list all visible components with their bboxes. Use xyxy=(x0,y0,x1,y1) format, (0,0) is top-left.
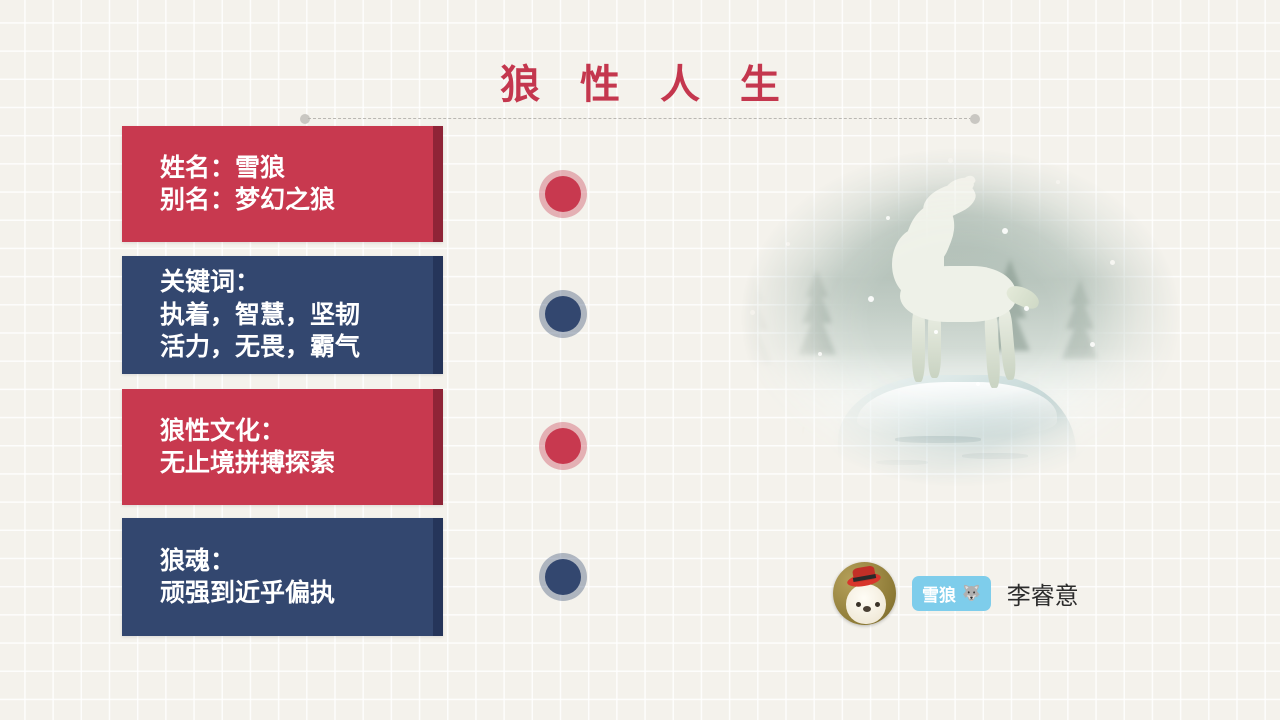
dry-grass xyxy=(768,420,810,476)
wolf-photo xyxy=(690,120,1210,540)
card-edge xyxy=(433,256,443,374)
card-line: 活力，无畏，霸气 xyxy=(160,331,443,364)
page-title: 狼 性 人 生 xyxy=(0,52,1280,110)
snowflake xyxy=(1024,306,1029,311)
snow-background xyxy=(690,120,1210,540)
card-edge xyxy=(433,126,443,242)
card-edge xyxy=(433,518,443,636)
card-line: 执着，智慧，坚韧 xyxy=(160,299,443,332)
status-badge[interactable]: 雪狼 🐺 xyxy=(912,576,991,611)
rock-shadow xyxy=(810,472,1110,506)
bullet-marker-3[interactable] xyxy=(539,422,587,470)
snowflake xyxy=(934,330,938,334)
snowflake xyxy=(1110,260,1115,265)
dog-eye-icon xyxy=(856,602,861,607)
avatar xyxy=(833,562,896,625)
conifer-tree-icon xyxy=(1062,279,1098,359)
card-line: 无止境拼搏探索 xyxy=(160,447,443,480)
signature-watermark: 雪狼 🐺 李睿意 xyxy=(833,562,1079,625)
snow-ground xyxy=(690,347,1210,540)
snowflake xyxy=(750,310,755,315)
wolf-face-icon: 🐺 xyxy=(962,586,981,601)
slide-canvas: 狼 性 人 生 姓名：雪狼 别名：梦幻之狼 关键词： 执着，智慧，坚韧 活力，无… xyxy=(0,0,1280,720)
snowflake xyxy=(728,174,733,179)
card-line: 关键词： xyxy=(160,266,443,299)
dog-face-icon xyxy=(846,584,886,624)
wolf-figure xyxy=(886,180,1036,385)
snowflake xyxy=(786,242,790,246)
bullet-core xyxy=(545,176,581,212)
snowflake xyxy=(840,166,846,172)
bullet-core xyxy=(545,428,581,464)
snowflake xyxy=(1152,222,1157,227)
snowflake xyxy=(868,296,874,302)
conifer-tree-icon xyxy=(730,268,772,364)
info-card-keywords[interactable]: 关键词： 执着，智慧，坚韧 活力，无畏，霸气 xyxy=(122,256,443,374)
badge-label: 雪狼 xyxy=(922,581,956,606)
snowflake xyxy=(976,382,980,386)
info-card-name[interactable]: 姓名：雪狼 别名：梦幻之狼 xyxy=(122,126,443,242)
dog-nose-icon xyxy=(863,606,871,612)
snowflake xyxy=(818,352,822,356)
divider xyxy=(300,114,980,124)
conifer-tree-icon xyxy=(990,259,1030,351)
bullet-core xyxy=(545,296,581,332)
snowflake xyxy=(1120,408,1126,414)
divider-dot-left xyxy=(300,114,310,124)
card-line: 狼性文化： xyxy=(160,415,443,448)
snowflake xyxy=(1002,228,1008,234)
card-line: 别名：梦幻之狼 xyxy=(160,184,443,217)
dog-eye-icon xyxy=(875,602,880,607)
author-name: 李睿意 xyxy=(1007,576,1079,611)
snowflake xyxy=(1056,180,1060,184)
info-card-culture[interactable]: 狼性文化： 无止境拼搏探索 xyxy=(122,389,443,505)
snowflake xyxy=(764,402,768,406)
card-line: 狼魂： xyxy=(160,545,443,578)
bullet-marker-2[interactable] xyxy=(539,290,587,338)
bullet-core xyxy=(545,559,581,595)
snowflake xyxy=(886,216,890,220)
snowflake xyxy=(948,158,953,163)
snowflake xyxy=(1090,342,1095,347)
bullet-marker-1[interactable] xyxy=(539,170,587,218)
bullet-marker-4[interactable] xyxy=(539,553,587,601)
snow-rock xyxy=(838,375,1076,493)
card-edge xyxy=(433,389,443,505)
card-line: 姓名：雪狼 xyxy=(160,152,443,185)
snowflake xyxy=(806,450,810,454)
divider-dot-right xyxy=(970,114,980,124)
divider-dashed-line xyxy=(308,118,972,119)
conifer-tree-icon xyxy=(798,269,836,355)
card-line: 顽强到近乎偏执 xyxy=(160,577,443,610)
snowflake xyxy=(710,270,714,274)
info-card-soul[interactable]: 狼魂： 顽强到近乎偏执 xyxy=(122,518,443,636)
